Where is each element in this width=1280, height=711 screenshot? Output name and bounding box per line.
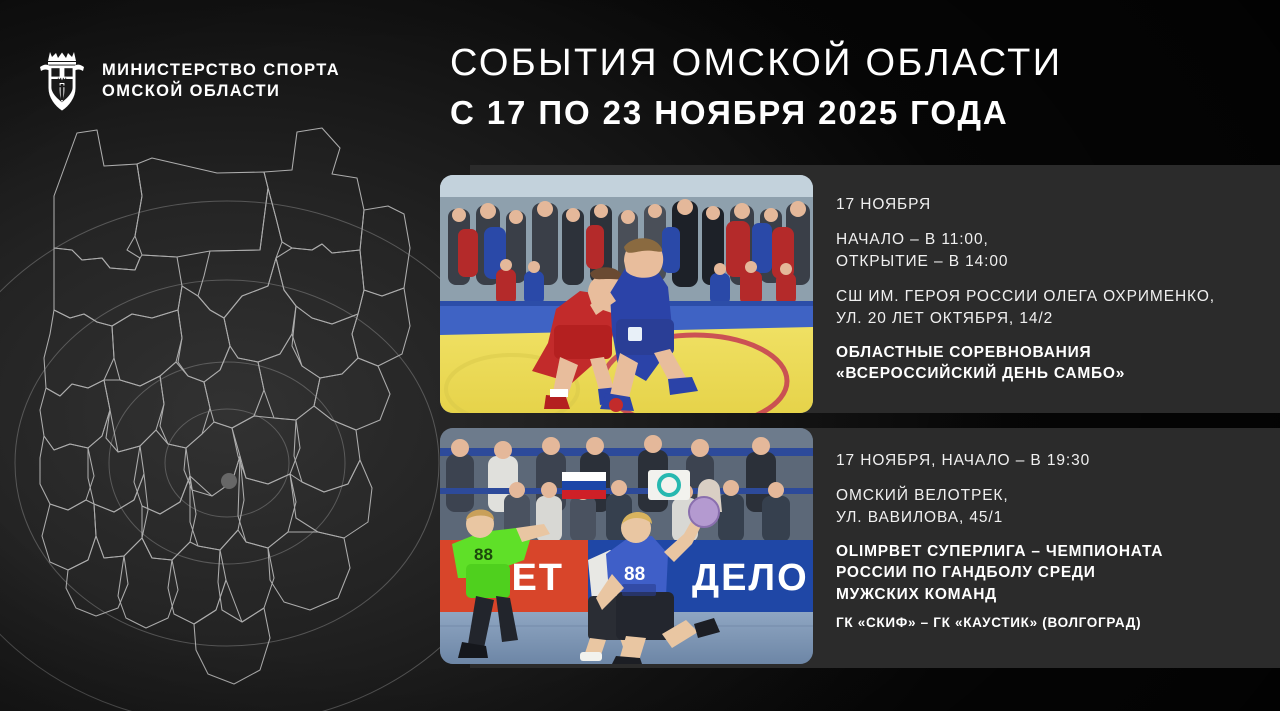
event-2-text: 17 НОЯБРЯ, НАЧАЛО – В 19:30 ОМСКИЙ ВЕЛОТ…: [836, 450, 1266, 632]
event-1-text: 17 НОЯБРЯ НАЧАЛО – В 11:00, ОТКРЫТИЕ – В…: [836, 194, 1266, 385]
event-1-time: НАЧАЛО – В 11:00, ОТКРЫТИЕ – В 14:00: [836, 229, 1266, 273]
omsk-oblast-coat-of-arms-icon: [38, 50, 86, 112]
sambo-wrestling-photo: [440, 175, 813, 413]
poster-header: МИНИСТЕРСТВО СПОРТА ОМСКОЙ ОБЛАСТИ СОБЫТ…: [0, 0, 1280, 150]
omsk-oblast-districts-map-icon: [0, 118, 462, 711]
page-title: СОБЫТИЯ ОМСКОЙ ОБЛАСТИ С 17 ПО 23 НОЯБРЯ…: [450, 44, 1062, 131]
event-2-venue: ОМСКИЙ ВЕЛОТРЕК, УЛ. ВАВИЛОВА, 45/1: [836, 485, 1266, 529]
svg-text:ДЕЛО: ДЕЛО: [692, 557, 809, 599]
poster-root: МИНИСТЕРСТВО СПОРТА ОМСКОЙ ОБЛАСТИ СОБЫТ…: [0, 0, 1280, 711]
event-1-venue: СШ ИМ. ГЕРОЯ РОССИИ ОЛЕГА ОХРИМЕНКО, УЛ.…: [836, 286, 1266, 330]
ministry-name: МИНИСТЕРСТВО СПОРТА ОМСКОЙ ОБЛАСТИ: [102, 60, 340, 102]
event-2-title: OLIMPBET СУПЕРЛИГА – ЧЕМПИОНАТА РОССИИ П…: [836, 541, 1266, 605]
event-1-title: ОБЛАСТНЫЕ СОРЕВНОВАНИЯ «ВСЕРОССИЙСКИЙ ДЕ…: [836, 342, 1266, 385]
title-line-2: С 17 ПО 23 НОЯБРЯ 2025 ГОДА: [450, 96, 1062, 131]
event-2-date: 17 НОЯБРЯ, НАЧАЛО – В 19:30: [836, 450, 1266, 472]
title-line-1: СОБЫТИЯ ОМСКОЙ ОБЛАСТИ: [450, 44, 1062, 84]
omsk-city-marker-icon: [221, 473, 237, 489]
event-1-date: 17 НОЯБРЯ: [836, 194, 1266, 216]
ministry-brand: МИНИСТЕРСТВО СПОРТА ОМСКОЙ ОБЛАСТИ: [38, 50, 340, 112]
svg-text:88: 88: [474, 545, 493, 564]
handball-match-photo: ВЕТ ДЕЛО 88: [440, 428, 813, 664]
event-2-subtitle: ГК «СКИФ» – ГК «КАУСТИК» (ВОЛГОГРАД): [836, 614, 1266, 632]
svg-text:88: 88: [624, 564, 645, 585]
